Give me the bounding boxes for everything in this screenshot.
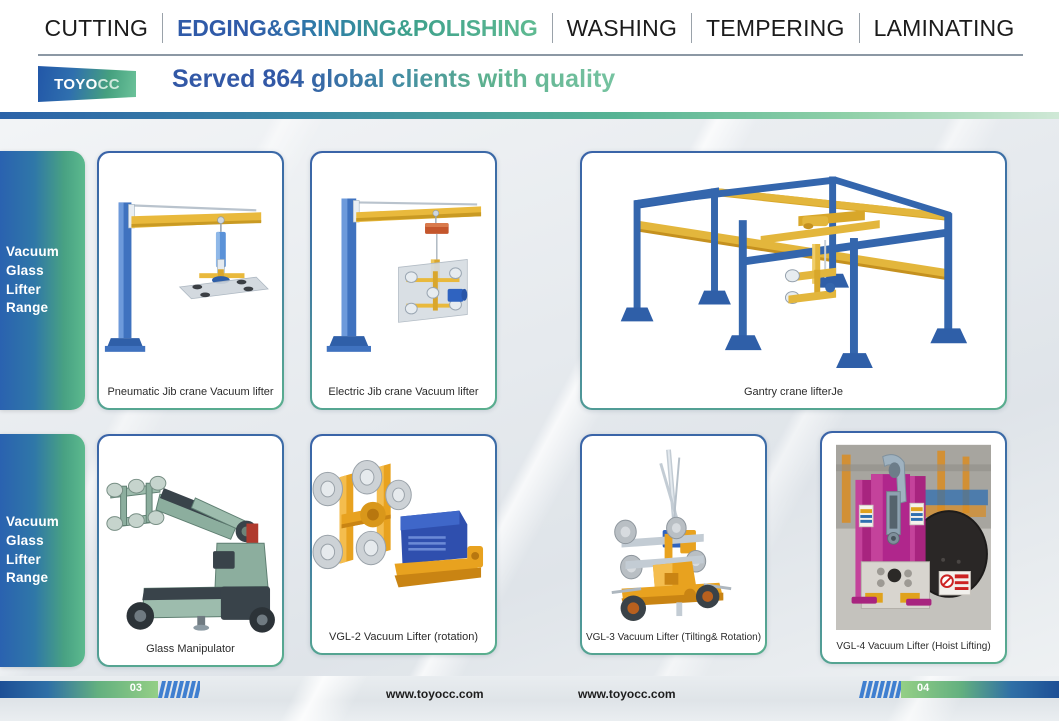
logo-text-primary: TOYO — [54, 76, 97, 93]
card-inner: VGL-3 Vacuum Lifter (Tilting& Rotation) — [582, 436, 766, 654]
electric-jib-crane-illustration — [312, 153, 496, 381]
slash-decor-right — [859, 681, 901, 698]
page-title: Served 864 global clients with quality — [172, 65, 615, 94]
brand-row: TOYOCC Served 864 global clients with qu… — [0, 60, 1059, 110]
top-navigation: CUTTING EDGING&GRINDING&POLISHING WASHIN… — [0, 0, 1059, 56]
product-card-pneumatic-jib-crane[interactable]: Pneumatic Jib crane Vacuum lifter — [97, 151, 284, 410]
page-indicator-left: 03 — [0, 681, 200, 698]
glass-manipulator-svg — [99, 436, 283, 638]
slash-decor-icon — [158, 681, 200, 698]
product-card-vgl2-vacuum-lifter[interactable]: VGL-2 Vacuum Lifter (rotation) — [310, 434, 497, 655]
nav-divider-rule — [38, 54, 1023, 56]
product-card-vgl4-vacuum-lifter[interactable]: VGL-4 Vacuum Lifter (Hoist Lifting) — [820, 431, 1007, 664]
toyocc-logo: TOYOCC — [38, 66, 136, 102]
sidebar-tab-vacuum-glass-lifter-range-bottom[interactable]: Vacuum Glass Lifter Range — [0, 434, 85, 667]
logo-text: TOYOCC — [54, 76, 120, 93]
sidebar-tab-vacuum-glass-lifter-range-top[interactable]: Vacuum Glass Lifter Range — [0, 151, 85, 410]
product-card-vgl3-vacuum-lifter[interactable]: VGL-3 Vacuum Lifter (Tilting& Rotation) — [580, 434, 767, 655]
vgl2-vacuum-lifter-illustration — [312, 436, 496, 626]
product-card-gantry-crane[interactable]: Gantry crane lifterJe — [580, 151, 1007, 410]
vgl3-vacuum-lifter-illustration — [582, 436, 766, 627]
nav-item-tempering[interactable]: TEMPERING — [692, 15, 859, 42]
card-inner: VGL-4 Vacuum Lifter (Hoist Lifting) — [822, 433, 1006, 663]
vgl4-vacuum-lifter-svg — [836, 441, 992, 634]
page-gradient-bar-right: 04 — [901, 681, 1059, 698]
card-caption: VGL-3 Vacuum Lifter (Tilting& Rotation) — [582, 626, 766, 653]
card-inner: Gantry crane lifterJe — [582, 153, 1006, 409]
page-gradient-bar-left: 03 — [0, 681, 158, 698]
card-caption: VGL-2 Vacuum Lifter (rotation) — [312, 625, 496, 653]
card-caption: Electric Jib crane Vacuum lifter — [312, 380, 496, 408]
vgl3-vacuum-lifter-svg — [582, 436, 766, 627]
nav-item-laminating[interactable]: LAMINATING — [860, 15, 1029, 42]
card-caption: VGL-4 Vacuum Lifter (Hoist Lifting) — [822, 635, 1006, 662]
gantry-crane-illustration — [582, 153, 1006, 381]
pneumatic-jib-crane-svg — [99, 153, 283, 381]
sidebar-tab-label: Vacuum Glass Lifter Range — [0, 513, 85, 588]
slash-decor-icon — [859, 681, 901, 698]
slide-page: CUTTING EDGING&GRINDING&POLISHING WASHIN… — [0, 0, 1059, 721]
nav-item-washing[interactable]: WASHING — [553, 15, 691, 42]
card-inner: Glass Manipulator — [99, 436, 283, 666]
card-inner: Electric Jib crane Vacuum lifter — [312, 153, 496, 409]
page-number-left: 03 — [130, 682, 142, 694]
footer-bar: 03 — [0, 676, 1059, 721]
header-gradient-bar — [0, 112, 1059, 119]
vgl2-vacuum-lifter-svg — [312, 436, 496, 626]
page-indicator-right: 04 — [859, 681, 1059, 698]
gantry-crane-svg — [582, 153, 1006, 381]
logo-text-secondary: CC — [98, 76, 120, 93]
electric-jib-crane-svg — [312, 153, 496, 381]
card-caption: Glass Manipulator — [99, 637, 283, 665]
product-card-electric-jib-crane[interactable]: Electric Jib crane Vacuum lifter — [310, 151, 497, 410]
page-number-right: 04 — [917, 682, 929, 694]
card-inner: Pneumatic Jib crane Vacuum lifter — [99, 153, 283, 409]
glass-manipulator-illustration — [99, 436, 283, 638]
card-inner: VGL-2 Vacuum Lifter (rotation) — [312, 436, 496, 654]
card-caption: Gantry crane lifterJe — [582, 380, 1006, 408]
nav-item-cutting[interactable]: CUTTING — [31, 15, 163, 42]
card-caption: Pneumatic Jib crane Vacuum lifter — [99, 380, 283, 408]
vgl4-vacuum-lifter-photo — [822, 433, 1006, 636]
pneumatic-jib-crane-illustration — [99, 153, 283, 381]
sidebar-tab-label: Vacuum Glass Lifter Range — [0, 243, 85, 318]
nav-item-edging-grinding-polishing[interactable]: EDGING&GRINDING&POLISHING — [163, 15, 551, 42]
website-label-left[interactable]: www.toyocc.com — [386, 687, 484, 701]
slash-decor-left — [158, 681, 200, 698]
product-card-glass-manipulator[interactable]: Glass Manipulator — [97, 434, 284, 667]
website-label-right[interactable]: www.toyocc.com — [578, 687, 676, 701]
